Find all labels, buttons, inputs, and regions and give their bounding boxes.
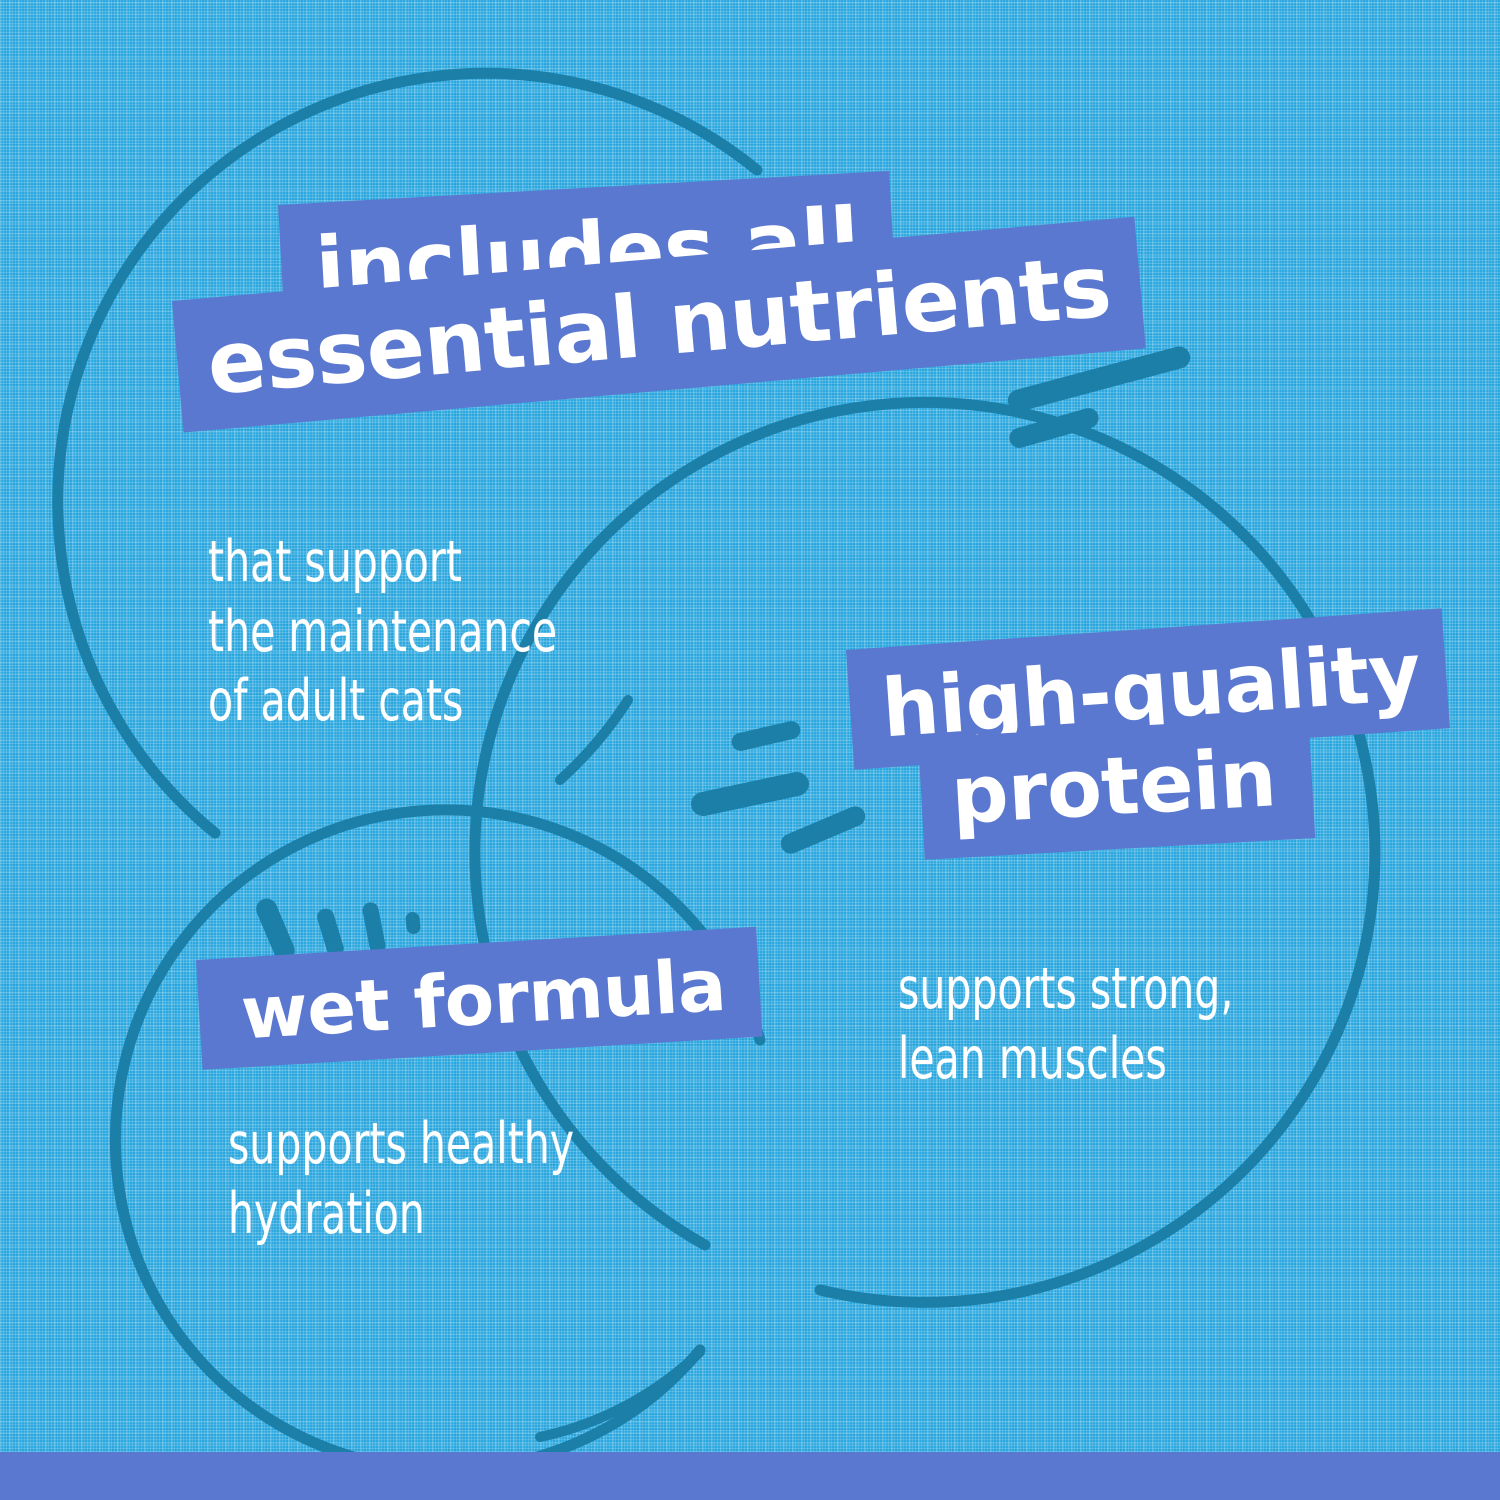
infographic-canvas: includes all essential nutrients that su… xyxy=(0,0,1500,1500)
sparks-middle-icon xyxy=(689,719,869,856)
feature-body-wet-formula: supports healthy hydration xyxy=(228,1110,574,1249)
feature-headline-high-quality-protein: high-quality protein xyxy=(846,650,1443,860)
feature-body-high-quality-protein: supports strong, lean muscles xyxy=(898,955,1233,1094)
circle-top-left-tail-icon xyxy=(560,700,628,780)
headline-line-2: protein xyxy=(918,716,1315,860)
feature-headline-essential-nutrients: includes all essential nutrients xyxy=(172,205,1138,433)
bottom-accent-bar xyxy=(0,1452,1500,1500)
feature-body-essential-nutrients: that support the maintenance of adult ca… xyxy=(208,528,557,737)
feature-headline-wet-formula: wet formula xyxy=(196,960,757,1070)
